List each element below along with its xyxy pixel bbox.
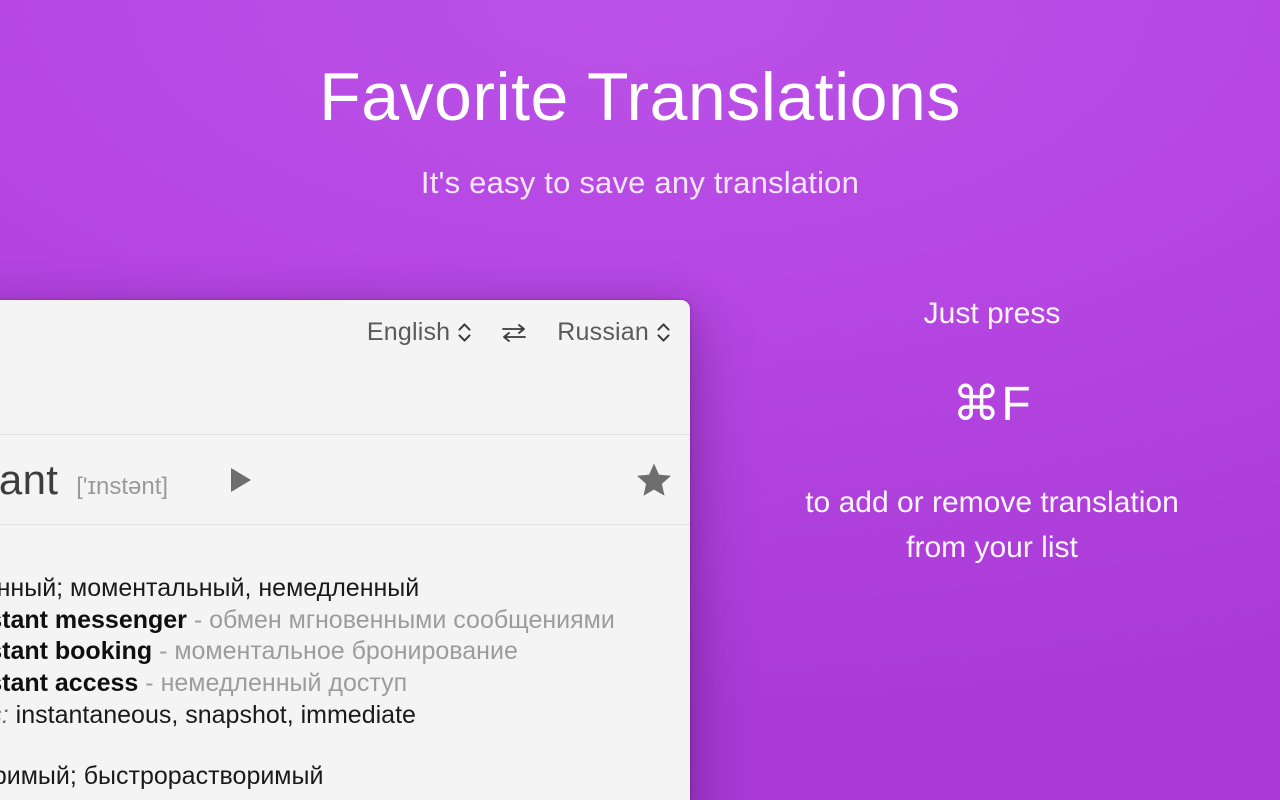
page-subtitle: It's easy to save any translation bbox=[0, 133, 1280, 201]
source-language-picker[interactable]: English bbox=[363, 316, 475, 349]
list-item: instant booking - моментальное бронирова… bbox=[0, 636, 690, 668]
instruction-detail-line-2: from your list bbox=[742, 525, 1242, 570]
translations-line: новенный; моментальный, немедленный bbox=[0, 573, 690, 605]
page-title: Favorite Translations bbox=[0, 0, 1280, 133]
headword: nstant bbox=[0, 459, 58, 501]
definition-body: ctive: новенный; моментальный, немедленн… bbox=[0, 525, 690, 792]
chevron-up-down-icon bbox=[656, 323, 670, 342]
example-dash: - bbox=[194, 606, 202, 634]
chevron-up-down-icon bbox=[457, 323, 471, 342]
phonetic-transcription: ['ɪnstənt] bbox=[76, 475, 168, 499]
instructions-panel: Just press ⌘F to add or remove translati… bbox=[742, 296, 1242, 570]
target-language-picker[interactable]: Russian bbox=[553, 316, 674, 349]
example-dash: - bbox=[159, 637, 167, 665]
play-triangle-icon[interactable] bbox=[224, 463, 258, 497]
target-language-label: Russian bbox=[557, 318, 649, 347]
hero-section: Favorite Translations It's easy to save … bbox=[0, 0, 1280, 201]
source-language-label: English bbox=[367, 318, 450, 347]
synonyms-line: nings: instantaneous, snapshot, immediat… bbox=[0, 700, 690, 732]
word-main: nstant ['ɪnstənt] bbox=[0, 459, 258, 501]
instruction-press-label: Just press bbox=[742, 296, 1242, 332]
example-term: instant access bbox=[0, 669, 138, 697]
example-translation: немедленный доступ bbox=[161, 669, 408, 697]
keyboard-shortcut: ⌘F bbox=[742, 376, 1242, 432]
example-translation: обмен мгновенными сообщениями bbox=[209, 606, 615, 634]
screen-root: Favorite Translations It's easy to save … bbox=[0, 0, 1280, 800]
instruction-detail-line-1: to add or remove translation bbox=[742, 480, 1242, 525]
example-term: instant booking bbox=[0, 637, 152, 665]
next-entry-line: створимый; быстрорастворимый bbox=[0, 761, 690, 793]
example-dash: - bbox=[145, 669, 153, 697]
translator-window: English Russian bbox=[0, 300, 690, 800]
synonyms-text: instantaneous, snapshot, immediate bbox=[16, 701, 416, 729]
definition-spacer bbox=[0, 732, 690, 761]
swap-arrows-icon[interactable] bbox=[497, 318, 531, 348]
example-term: instant messenger bbox=[0, 606, 187, 634]
list-item: instant access - немедленный доступ bbox=[0, 668, 690, 700]
word-header-row: nstant ['ɪnstənt] bbox=[0, 435, 690, 525]
synonyms-label: nings: bbox=[0, 701, 9, 729]
star-filled-icon[interactable] bbox=[632, 458, 676, 502]
instruction-detail: to add or remove translation from your l… bbox=[742, 480, 1242, 570]
list-item: instant messenger - обмен мгновенными со… bbox=[0, 605, 690, 637]
language-controls: English Russian bbox=[363, 316, 674, 349]
language-bar: English Russian bbox=[0, 300, 690, 435]
example-translation: моментальное бронирование bbox=[174, 637, 518, 665]
part-of-speech-line: ctive: bbox=[0, 541, 690, 573]
next-entry-text: створимый; быстрорастворимый bbox=[0, 762, 323, 790]
translations-text: новенный; моментальный, немедленный bbox=[0, 574, 419, 602]
